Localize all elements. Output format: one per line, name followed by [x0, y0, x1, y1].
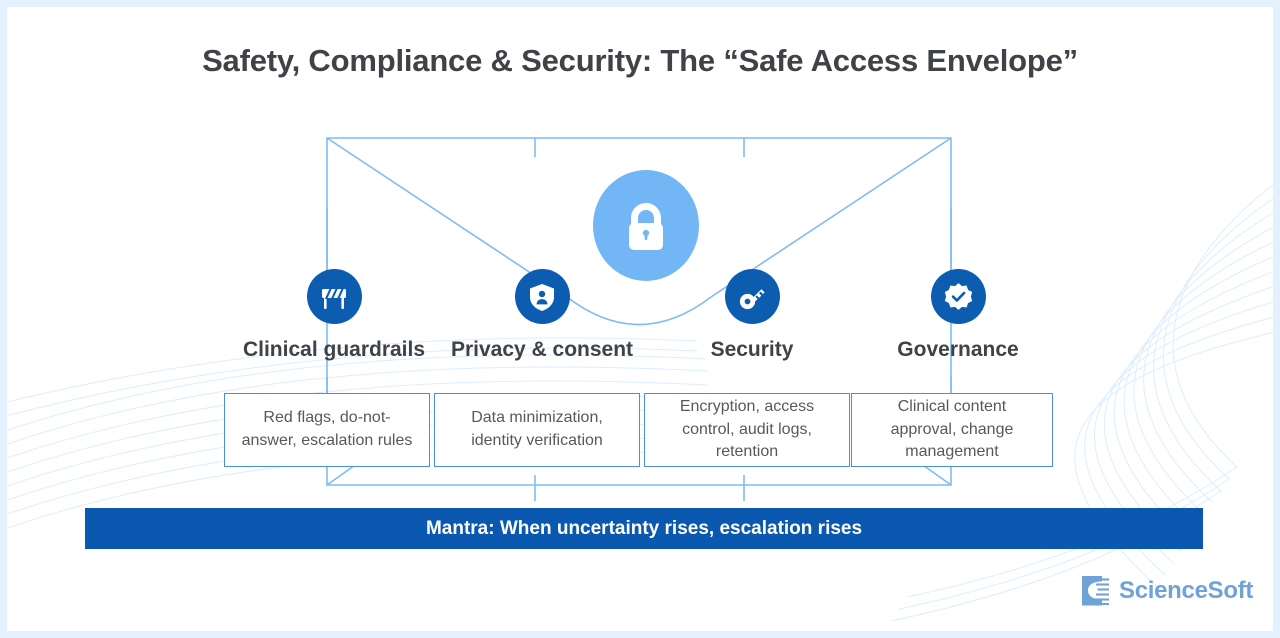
pillar-icon-wrapper [931, 269, 986, 324]
pillar-governance: Governance [838, 269, 1078, 365]
shield-person-icon [527, 281, 557, 313]
slide-canvas: Safety, Compliance & Security: The “Safe… [7, 7, 1273, 631]
pillar-label: Clinical guardrails [214, 335, 454, 365]
sciencesoft-logo-icon [1080, 574, 1112, 608]
mantra-banner: Mantra: When uncertainty rises, escalati… [85, 508, 1203, 549]
description-box-privacy-consent: Data minimization, identity verification [434, 393, 640, 467]
pillar-security: Security [632, 269, 872, 365]
description-box-governance: Clinical content approval, change manage… [851, 393, 1053, 467]
pillar-label: Privacy & consent [422, 335, 662, 365]
pillar-privacy-consent: Privacy & consent [422, 269, 662, 365]
lock-icon [620, 197, 672, 255]
pillar-icon-wrapper [515, 269, 570, 324]
mantra-text: Mantra: When uncertainty rises, escalati… [426, 518, 862, 540]
description-box-security: Encryption, access control, audit logs, … [644, 393, 850, 467]
verified-badge-icon [943, 281, 974, 312]
brand-name: ScienceSoft [1119, 577, 1253, 605]
key-icon [737, 281, 768, 312]
pillar-clinical-guardrails: Clinical guardrails [214, 269, 454, 365]
pillar-icon-wrapper [725, 269, 780, 324]
pillar-icon-wrapper [307, 269, 362, 324]
lock-badge [593, 170, 699, 281]
pillar-label: Governance [838, 335, 1078, 365]
brand-logo: ScienceSoft [1080, 574, 1253, 608]
road-barrier-icon [318, 281, 350, 313]
page-title: Safety, Compliance & Security: The “Safe… [7, 43, 1273, 79]
pillar-label: Security [632, 335, 872, 365]
description-box-clinical-guardrails: Red flags, do-not-answer, escalation rul… [224, 393, 430, 467]
